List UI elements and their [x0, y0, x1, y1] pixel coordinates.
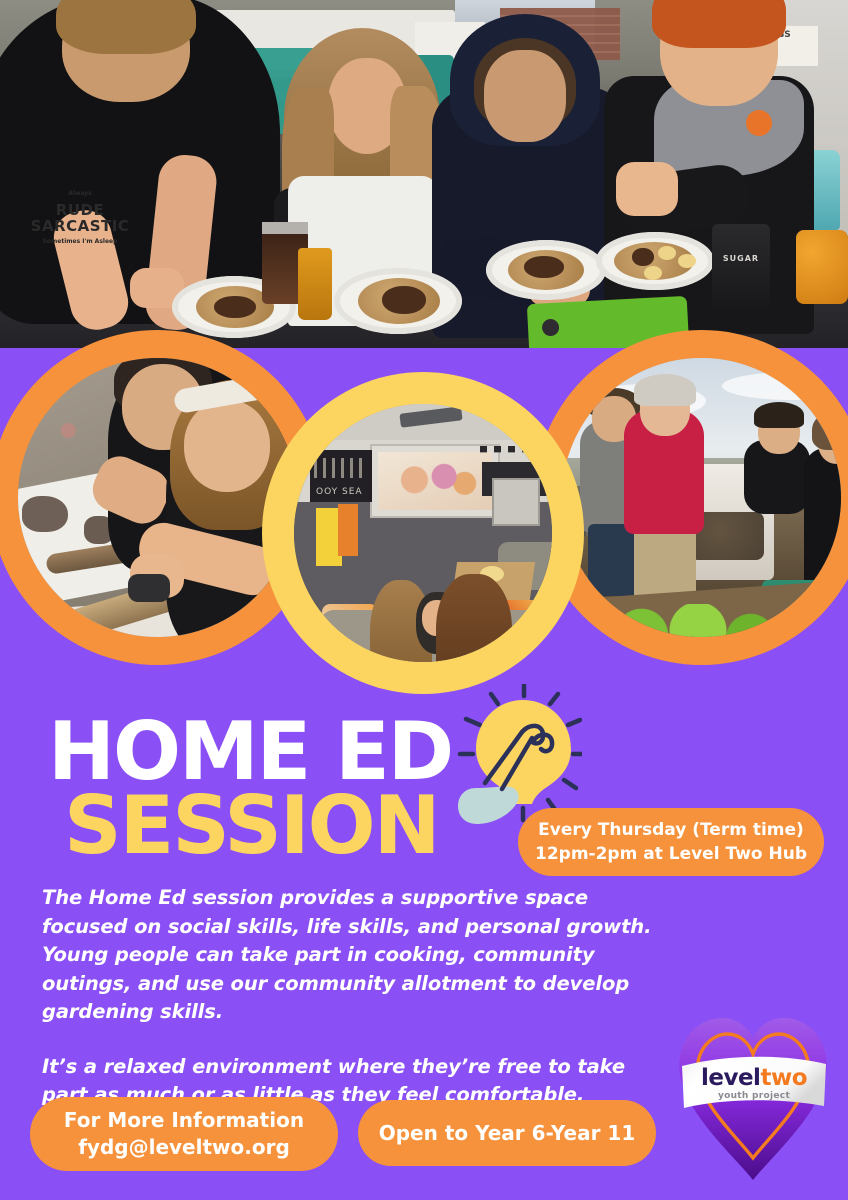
allotment-woman — [804, 448, 841, 598]
projector-screen — [370, 444, 500, 518]
age-range-label: Open to Year 6-Year 11 — [379, 1120, 636, 1147]
ginger-boy-hand — [616, 162, 678, 216]
chalkboard-text: OOY SEA — [316, 487, 363, 497]
honey-bottle — [298, 248, 332, 320]
chalkboard: OOY SEA — [310, 450, 372, 502]
hooded-teen-face — [484, 50, 566, 142]
age-range-badge: Open to Year 6-Year 11 — [358, 1100, 656, 1166]
cooking-session-photo: BAGS Always RUDE SAR — [0, 0, 848, 348]
chocolate-spread-1 — [214, 296, 256, 318]
chalkboard-writing — [314, 458, 368, 478]
cinema-room-photo: OOY SEA — [262, 372, 584, 694]
poster-root: BAGS Always RUDE SAR — [0, 0, 848, 1200]
sugar-jar: SUGAR — [712, 224, 770, 316]
circle-photo-row: OOY SEA — [0, 330, 848, 710]
chocolate-spread-2 — [382, 286, 426, 314]
chocolate-spread-4 — [632, 248, 654, 266]
tshirt-slogan-top: Always — [18, 186, 142, 202]
fruit-jars — [796, 230, 848, 304]
banana-slice-2 — [678, 254, 696, 268]
cinema-photo-inner: OOY SEA — [294, 404, 552, 662]
contact-badge[interactable]: For More Information fydg@leveltwo.org — [30, 1097, 338, 1171]
tshirt-slogan-bottom: Sometimes I'm Asleep — [18, 234, 142, 250]
clay-lump-1 — [22, 496, 68, 532]
orange-stool — [338, 504, 358, 556]
boy-black-hair — [56, 0, 196, 54]
green-plants — [604, 604, 792, 637]
lightbulb-icon — [452, 684, 582, 826]
headline-line-1: HOME ED — [48, 716, 452, 788]
contact-label: For More Information — [64, 1107, 304, 1134]
allotment-man-black-hair — [754, 402, 804, 428]
logo-heart-graphic — [672, 1008, 834, 1184]
allotment-photo-inner — [562, 358, 841, 637]
ginger-boy-hair — [652, 0, 786, 48]
pottery-photo-inner — [18, 358, 297, 637]
sugar-jar-label: SUGAR — [718, 254, 764, 263]
chocolate-spread-3 — [524, 256, 564, 278]
cinema-young-person-2 — [436, 574, 512, 662]
projected-image — [378, 452, 492, 510]
photo-scene-cooking: BAGS Always RUDE SAR — [0, 0, 848, 348]
contact-email[interactable]: fydg@leveltwo.org — [78, 1134, 290, 1161]
lightbulb-base — [458, 786, 519, 824]
clay-stamp-tool — [128, 574, 170, 602]
headline-line-2: SESSION — [48, 790, 452, 862]
banana-slice-3 — [644, 266, 662, 280]
ginger-boy-jacket-logo — [746, 110, 772, 136]
schedule-badge: Every Thursday (Term time) 12pm-2pm at L… — [518, 808, 824, 876]
leveltwo-logo: leveltwo youth project — [672, 1008, 834, 1184]
banana-slice-1 — [658, 246, 676, 260]
jar-lid — [262, 222, 308, 234]
allotment-man-red-hair — [634, 374, 696, 406]
allotment-photo — [534, 330, 848, 665]
pottery-person-front-head — [184, 400, 270, 492]
schedule-line-1: Every Thursday (Term time) — [538, 818, 804, 842]
description-block: The Home Ed session provides a supportiv… — [42, 884, 667, 1110]
tshirt-slogan: Always RUDE SARCASTIC Sometimes I'm Asle… — [18, 186, 142, 250]
tshirt-slogan-line2: SARCASTIC — [31, 217, 130, 235]
description-paragraph-1: The Home Ed session provides a supportiv… — [42, 884, 667, 1027]
storage-shelf — [492, 478, 540, 526]
schedule-line-2: 12pm-2pm at Level Two Hub — [535, 842, 807, 866]
page-title: HOME ED SESSION — [48, 716, 452, 862]
